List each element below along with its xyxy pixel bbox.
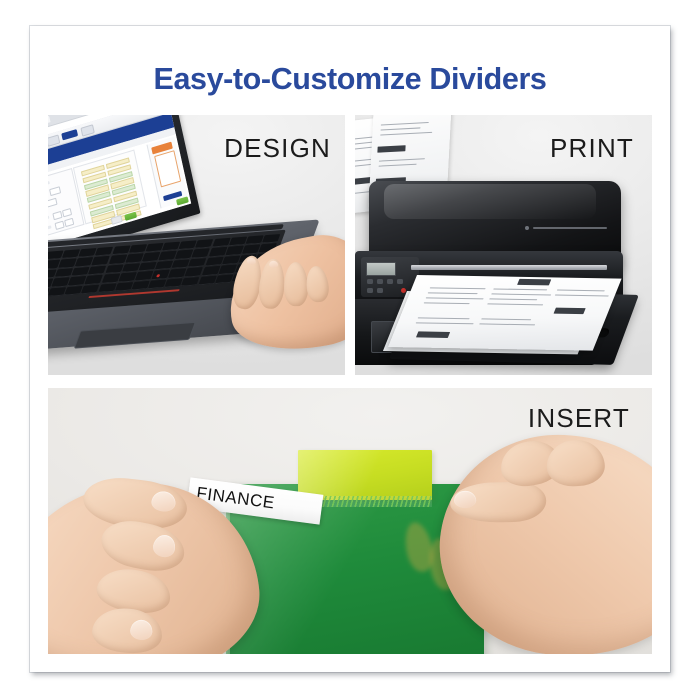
lid-seam [533,227,607,229]
cancel-button [111,215,123,225]
lid-notch [525,226,529,230]
divider-tab [298,450,432,500]
printer-button-5[interactable] [367,288,373,293]
trackpad [74,322,196,349]
printed-tab-marker [416,331,450,338]
lid-highlight [384,184,596,218]
preview-outline [154,150,181,187]
ring-finger [284,262,309,306]
panel-caption-design: DESIGN [224,133,331,164]
printer-button-4[interactable] [397,279,403,284]
product-card: Easy-to-Customize Dividers [30,26,670,672]
label-grid [81,157,139,215]
printer-button-1[interactable] [367,279,373,284]
printed-tab-marker [554,308,586,315]
page-title: Easy-to-Customize Dividers [30,62,670,97]
printer-lcd-display [366,262,396,276]
product-image: Easy-to-Customize Dividers [0,0,700,700]
left-thumb-nail [151,533,177,559]
printer-output-slot [411,265,607,270]
left-thumb [97,515,188,576]
left-ring-nail [130,619,154,641]
panel-print: PRINT [355,115,652,375]
panel-insert: FINANCE INSERT [48,388,652,654]
left-ring-finger [90,606,164,654]
little-finger [305,265,331,303]
middle-finger [257,258,286,310]
fingernail [246,257,256,266]
printer-illustration [355,139,652,375]
printed-tab-marker [517,279,551,286]
left-index-nail [151,490,177,512]
right-thumb [450,481,547,523]
fingernail [269,260,279,268]
panel-design: DESIGN [48,115,345,375]
panel-caption-print: PRINT [550,133,634,164]
right-thumb-nail [454,491,476,508]
printed-sheet-upper [388,275,621,351]
printer-button-6[interactable] [377,288,383,293]
printer-button-2[interactable] [377,279,383,284]
panel-caption-insert: INSERT [528,403,630,434]
right-middle-finger [546,439,606,487]
printer-button-3[interactable] [387,279,393,284]
